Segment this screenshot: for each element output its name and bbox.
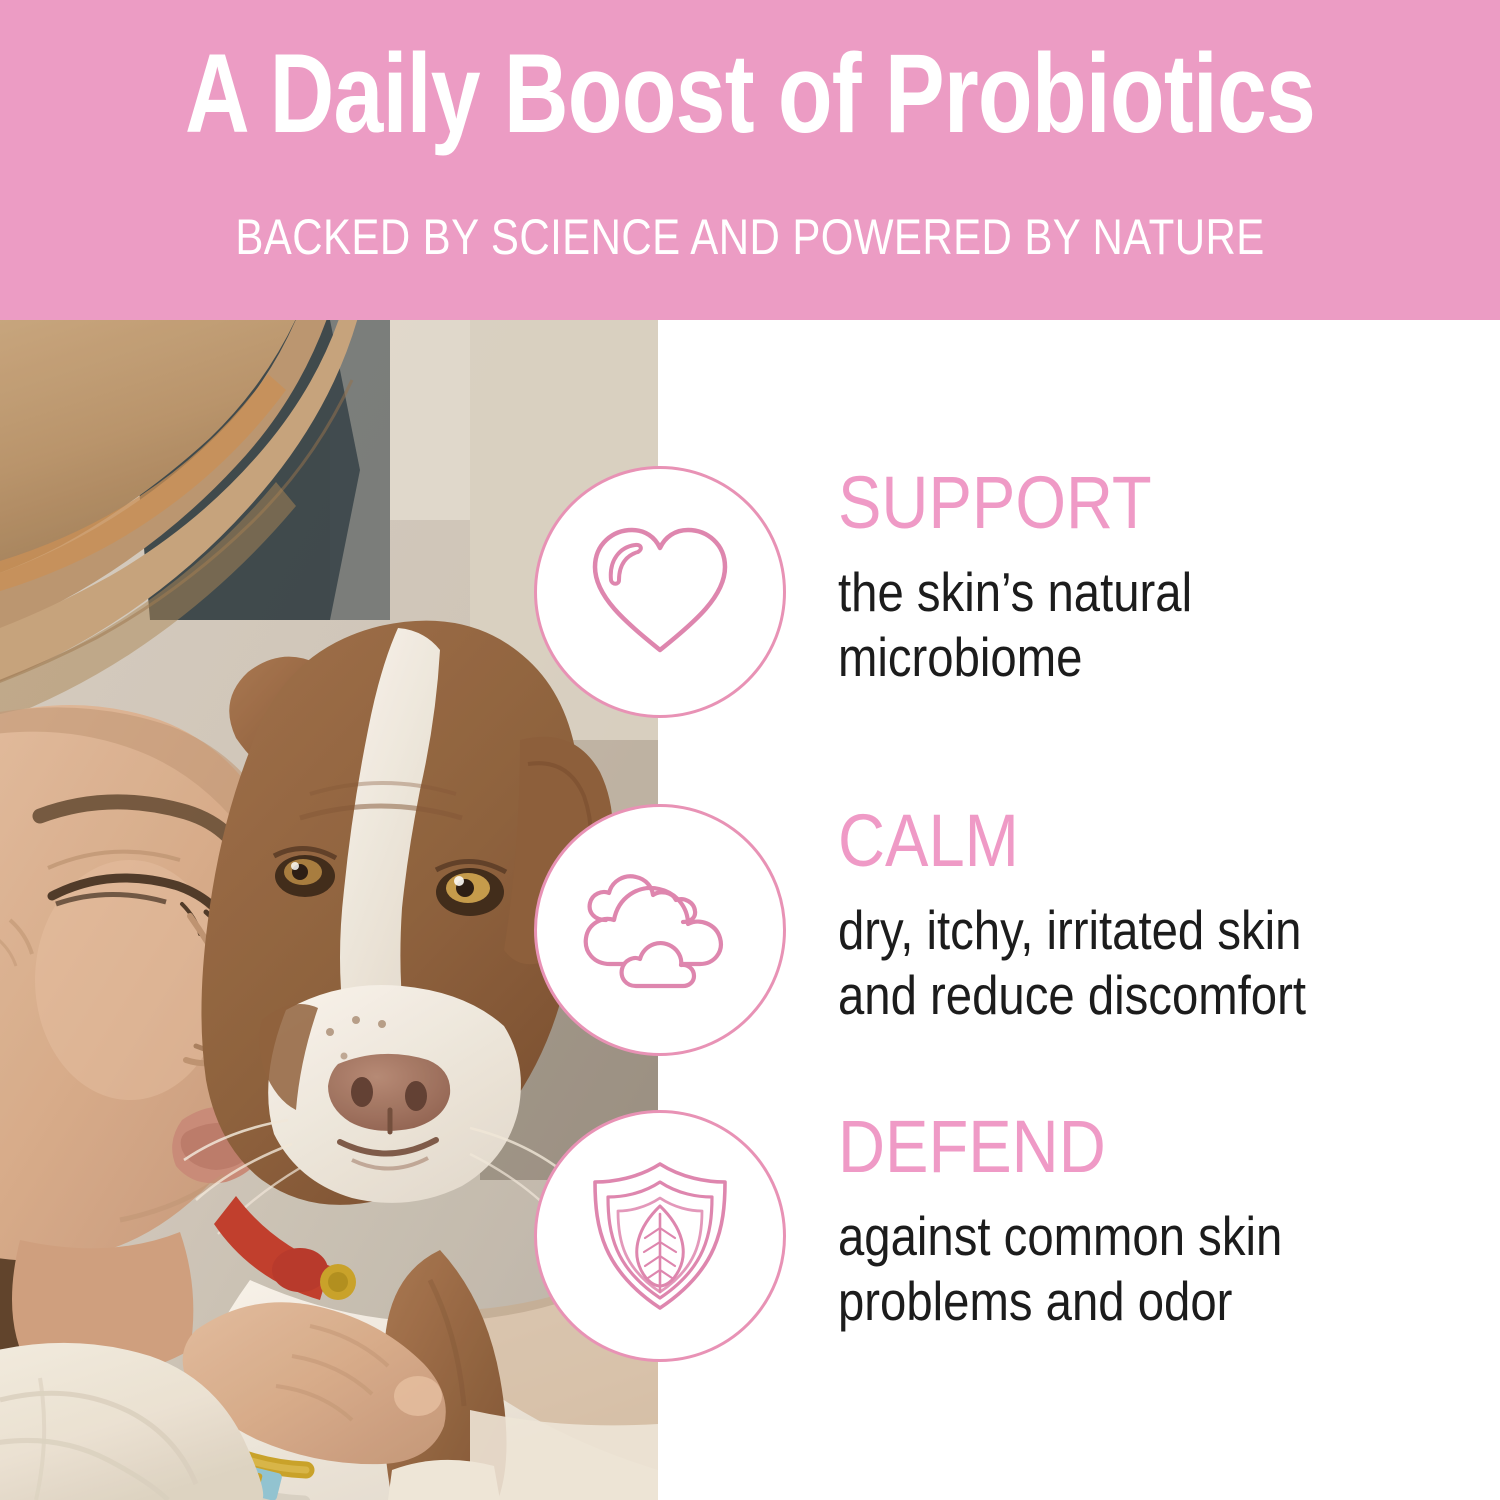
benefit-body-line: and reduce discomfort — [838, 963, 1388, 1028]
benefits-list: SUPPORT the skin’s natural microbiome — [0, 320, 1500, 1500]
clouds-icon — [534, 804, 786, 1056]
benefit-body-line: the skin’s natural — [838, 560, 1388, 625]
benefit-body: dry, itchy, irritated skin and reduce di… — [838, 898, 1388, 1028]
benefit-body-line: microbiome — [838, 625, 1388, 690]
benefit-body: the skin’s natural microbiome — [838, 560, 1388, 690]
benefit-text-support: SUPPORT the skin’s natural microbiome — [838, 466, 1478, 690]
probiotics-benefits-infographic: A Daily Boost of Probiotics BACKED BY SC… — [0, 0, 1500, 1500]
benefit-heading: DEFEND — [838, 1110, 1401, 1184]
benefit-heading: SUPPORT — [838, 466, 1401, 540]
shield-leaf-icon — [534, 1110, 786, 1362]
benefit-heading: CALM — [838, 804, 1401, 878]
benefit-text-defend: DEFEND against common skin problems and … — [838, 1110, 1478, 1334]
benefit-item-support: SUPPORT the skin’s natural microbiome — [0, 466, 1500, 726]
benefit-body-line: problems and odor — [838, 1269, 1388, 1334]
benefit-item-calm: CALM dry, itchy, irritated skin and redu… — [0, 804, 1500, 1064]
benefit-body-line: against common skin — [838, 1204, 1388, 1269]
heart-icon — [534, 466, 786, 718]
benefit-body-line: dry, itchy, irritated skin — [838, 898, 1388, 963]
page-title: A Daily Boost of Probiotics — [150, 38, 1350, 150]
page-subtitle: BACKED BY SCIENCE AND POWERED BY NATURE — [120, 212, 1380, 262]
header-banner: A Daily Boost of Probiotics BACKED BY SC… — [0, 0, 1500, 320]
benefit-text-calm: CALM dry, itchy, irritated skin and redu… — [838, 804, 1478, 1028]
benefit-body: against common skin problems and odor — [838, 1204, 1388, 1334]
benefit-item-defend: DEFEND against common skin problems and … — [0, 1110, 1500, 1370]
